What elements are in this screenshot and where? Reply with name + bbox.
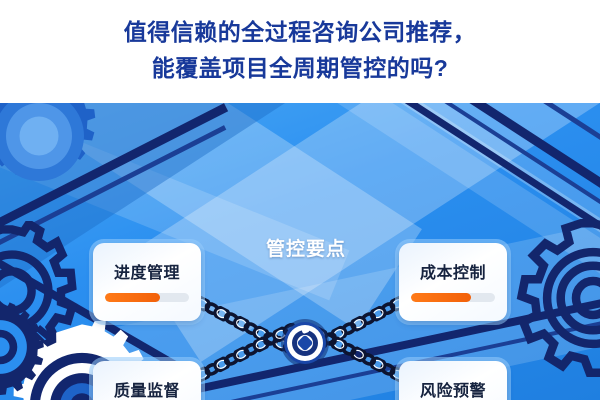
center-heading: 管控要点	[236, 234, 376, 261]
header-banner: 值得信赖的全过程咨询公司推荐， 能覆盖项目全周期管控的吗?	[0, 0, 600, 103]
card-title: 成本控制	[399, 259, 507, 283]
illustration-stage: 管控要点 进度管理 成本控制 质量监督 风险预警	[0, 103, 600, 400]
card-title: 风险预警	[399, 377, 507, 400]
card-cost[interactable]: 成本控制	[399, 243, 507, 321]
page-title-line2: 能覆盖项目全周期管控的吗?	[0, 50, 600, 86]
card-title: 进度管理	[93, 259, 201, 283]
poster-root: 值得信赖的全过程咨询公司推荐， 能覆盖项目全周期管控的吗?	[0, 0, 600, 400]
card-title: 质量监督	[93, 377, 201, 400]
card-quality[interactable]: 质量监督	[93, 361, 201, 400]
gear-icon	[508, 213, 600, 383]
card-schedule[interactable]: 进度管理	[93, 243, 201, 321]
gear-icon	[0, 299, 48, 395]
gear-icon	[0, 103, 114, 211]
page-title-line1: 值得信赖的全过程咨询公司推荐，	[124, 19, 477, 45]
progress-fill	[105, 293, 160, 302]
page-title: 值得信赖的全过程咨询公司推荐， 能覆盖项目全周期管控的吗?	[0, 14, 600, 86]
progress-fill	[411, 293, 471, 302]
progress-track	[411, 293, 495, 302]
network-hub-icon	[284, 322, 326, 364]
progress-track	[105, 293, 189, 302]
card-risk[interactable]: 风险预警	[399, 361, 507, 400]
